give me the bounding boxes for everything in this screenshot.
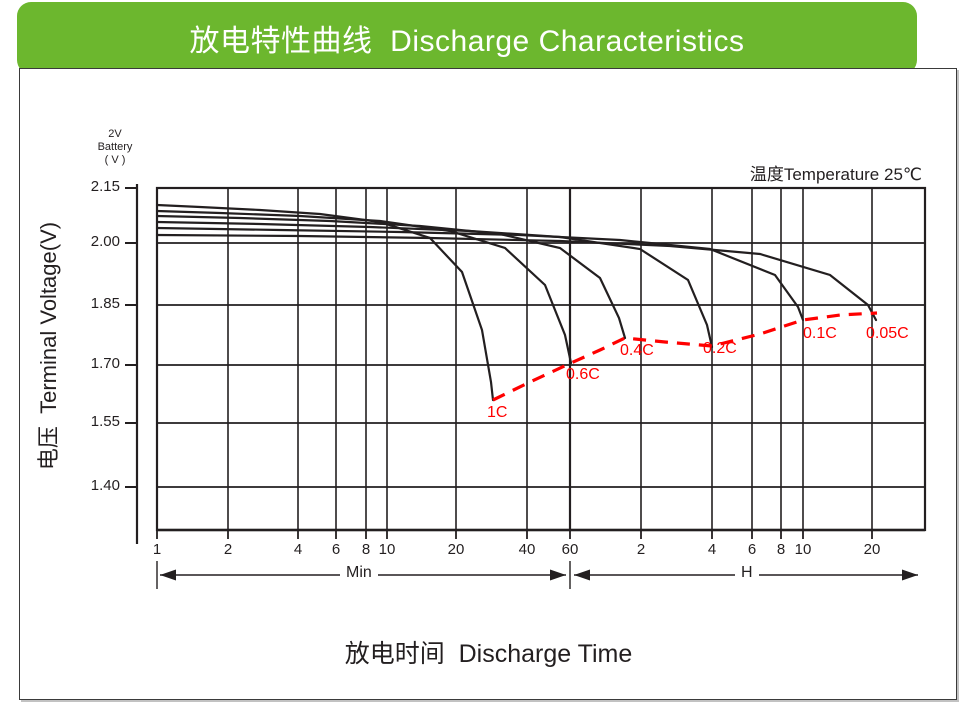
x-axis-tick-label: 1 [137, 541, 177, 558]
min-range-arrow-arrow-left [160, 570, 176, 581]
discharge-chart [0, 0, 977, 706]
y-axis-tick-label: 1.40 [60, 477, 120, 494]
x-axis-tick-label: 60 [550, 541, 590, 558]
x-axis-tick-label: 20 [852, 541, 892, 558]
y-axis-caption-line1: 2V [75, 128, 155, 141]
x-axis-tick-label: 2 [208, 541, 248, 558]
y-axis-tick-label: 2.15 [60, 178, 120, 195]
y-axis-caption-line2: Battery [75, 141, 155, 154]
x-axis-tick-label: 20 [436, 541, 476, 558]
y-axis-tick-label: 1.85 [60, 295, 120, 312]
y-axis-tick-label: 1.70 [60, 355, 120, 372]
y-axis-top-caption: 2V Battery ( V ) [75, 128, 155, 167]
temperature-annotation: 温度Temperature 25℃ [750, 160, 922, 185]
x-axis-tick-label: 40 [507, 541, 547, 558]
x-axis-title: 放电时间 Discharge Time [0, 634, 977, 670]
discharge-curve-0p1C [157, 228, 803, 320]
curve-label-1C: 1C [487, 404, 507, 422]
curve-label-0p4C: 0.4C [620, 342, 654, 360]
curve-label-0p2C: 0.2C [703, 340, 737, 358]
y-axis-title: 电压 Terminal Voltage(V) [31, 181, 63, 511]
y-axis-caption-line3: ( V ) [75, 154, 155, 167]
discharge-characteristics-page: 放电特性曲线 Discharge Characteristics 2V Batt… [0, 0, 977, 706]
discharge-curve-1C [157, 205, 493, 400]
x-axis-tick-label: 2 [621, 541, 661, 558]
x-axis-segment-label-hour: H [735, 564, 759, 582]
x-axis-tick-label: 4 [692, 541, 732, 558]
curve-label-0p6C: 0.6C [566, 366, 600, 384]
plot-border [157, 188, 925, 530]
x-axis-tick-label: 10 [783, 541, 823, 558]
discharge-curve-0p05C [157, 235, 876, 320]
y-axis-tick-label: 1.55 [60, 413, 120, 430]
hour-range-arrow-arrow-right [902, 570, 918, 581]
y-axis-tick-label: 2.00 [60, 233, 120, 250]
curve-label-0p05C: 0.05C [866, 325, 909, 343]
x-axis-tick-label: 10 [367, 541, 407, 558]
hour-range-arrow-arrow-left [574, 570, 590, 581]
curve-label-0p1C: 0.1C [803, 325, 837, 343]
x-axis-tick-label: 4 [278, 541, 318, 558]
x-axis-segment-label-min: Min [340, 564, 378, 582]
min-range-arrow-arrow-right [550, 570, 566, 581]
